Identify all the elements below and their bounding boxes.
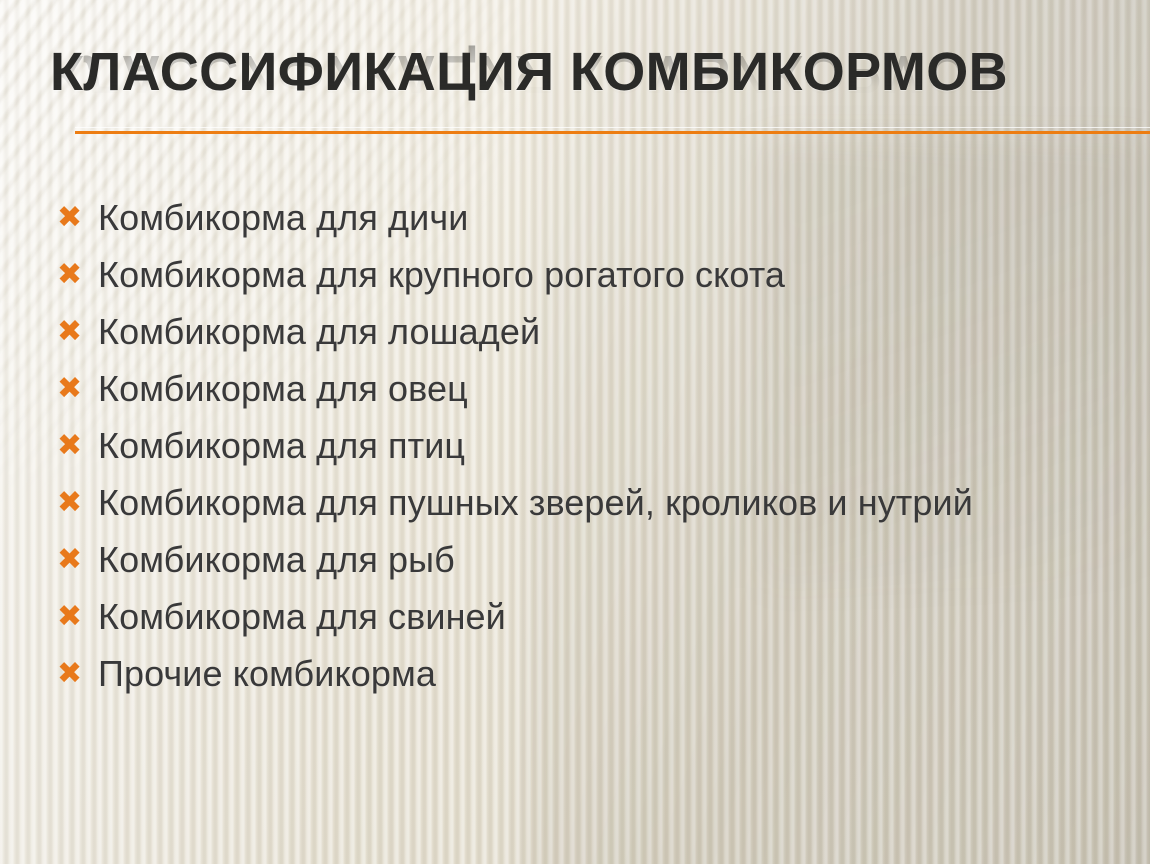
list-item[interactable]: ✖ Комбикорма для свиней — [52, 595, 1092, 639]
title-underline-rule — [75, 131, 1150, 134]
list-item[interactable]: ✖ Комбикорма для овец — [52, 367, 1092, 411]
list-item-label: Комбикорма для крупного рогатого скота — [98, 253, 1043, 297]
list-item-label: Комбикорма для овец — [98, 367, 1043, 411]
list-item[interactable]: ✖ Комбикорма для птиц — [52, 424, 1092, 468]
list-item[interactable]: ✖ Комбикорма для дичи — [52, 196, 1092, 240]
cross-bullet-icon: ✖ — [52, 595, 98, 639]
list-item-label: Комбикорма для лошадей — [98, 310, 1043, 354]
list-item[interactable]: ✖ Прочие комбикорма — [52, 652, 1092, 696]
list-item-label: Комбикорма для птиц — [98, 424, 1043, 468]
cross-bullet-icon: ✖ — [52, 196, 98, 240]
list-item[interactable]: ✖ Комбикорма для пушных зверей, кроликов… — [52, 481, 1092, 525]
page-title: Классификация комбикормов — [50, 42, 1008, 102]
list-item-label: Комбикорма для свиней — [98, 595, 1043, 639]
cross-bullet-icon: ✖ — [52, 424, 98, 468]
list-item[interactable]: ✖ Комбикорма для лошадей — [52, 310, 1092, 354]
cross-bullet-icon: ✖ — [52, 310, 98, 354]
list-item-label: Комбикорма для рыб — [98, 538, 1043, 582]
cross-bullet-icon: ✖ — [52, 367, 98, 411]
list-item[interactable]: ✖ Комбикорма для крупного рогатого скота — [52, 253, 1092, 297]
title-underline-highlight — [75, 127, 1150, 128]
list-item[interactable]: ✖ Комбикорма для рыб — [52, 538, 1092, 582]
slide-title-block: Классификация комбикормов Классификация … — [50, 42, 1100, 138]
cross-bullet-icon: ✖ — [52, 481, 98, 525]
list-item-label: Прочие комбикорма — [98, 652, 1043, 696]
presentation-slide: Классификация комбикормов Классификация … — [0, 0, 1150, 864]
list-item-label: Комбикорма для пушных зверей, кроликов и… — [98, 481, 1043, 525]
cross-bullet-icon: ✖ — [52, 652, 98, 696]
cross-bullet-icon: ✖ — [52, 253, 98, 297]
bullet-list: ✖ Комбикорма для дичи ✖ Комбикорма для к… — [52, 196, 1092, 709]
cross-bullet-icon: ✖ — [52, 538, 98, 582]
list-item-label: Комбикорма для дичи — [98, 196, 1043, 240]
